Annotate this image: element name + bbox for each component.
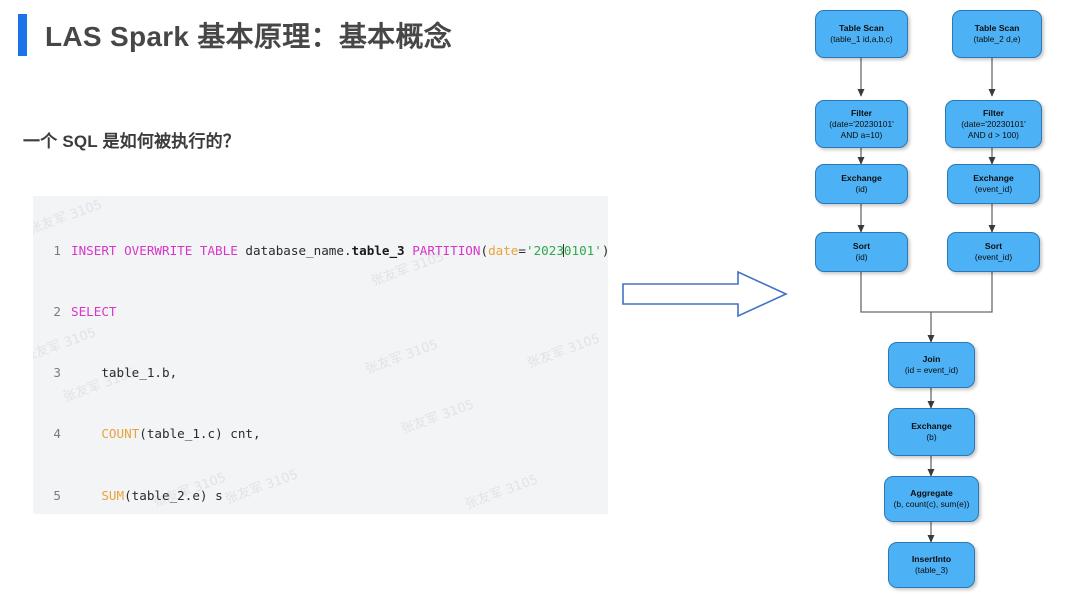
node-title: InsertInto — [912, 554, 951, 565]
line-number: 2 — [33, 302, 61, 322]
sql-code-block[interactable]: 张友军 3105 张友军 3105 张友军 3105 张友军 3105 张友军 … — [33, 196, 608, 514]
code-line: 4 COUNT(table_1.c) cnt, — [33, 424, 608, 444]
page-title: LAS Spark 基本原理：基本概念 — [45, 15, 452, 55]
code-lines: 1INSERT OVERWRITE TABLE database_name.ta… — [33, 196, 608, 514]
line-number: 5 — [33, 486, 61, 506]
line-number: 3 — [33, 363, 61, 383]
code-line: 2SELECT — [33, 302, 608, 322]
physical-plan-diagram: Table Scan (table_1 id,a,b,c) Table Scan… — [795, 0, 1080, 595]
subtitle-question: 一个 SQL 是如何被执行的？ — [23, 127, 240, 152]
node-subtitle: (table_2 d,e) — [973, 34, 1020, 45]
plan-node-table-scan-1[interactable]: Table Scan (table_1 id,a,b,c) — [815, 10, 908, 58]
flow-arrow-icon — [620, 268, 790, 320]
node-subtitle: (b, count(c), sum(e)) — [894, 499, 970, 510]
node-subtitle: (event_id) — [975, 184, 1012, 195]
node-subtitle: (id = event_id) — [905, 365, 958, 376]
node-title: Filter — [851, 108, 872, 119]
node-title: Exchange — [841, 173, 882, 184]
node-subtitle: (event_id) — [975, 252, 1012, 263]
code-line: 3 table_1.b, — [33, 363, 608, 383]
code-line: 5 SUM(table_2.e) s — [33, 486, 608, 506]
node-subtitle: (date='20230101' AND d > 100) — [961, 119, 1025, 140]
node-title: Sort — [853, 241, 870, 252]
node-subtitle: (date='20230101' AND a=10) — [829, 119, 893, 140]
plan-node-aggregate[interactable]: Aggregate (b, count(c), sum(e)) — [884, 476, 979, 522]
node-subtitle: (table_1 id,a,b,c) — [830, 34, 892, 45]
plan-node-insert-into[interactable]: InsertInto (table_3) — [888, 542, 975, 588]
node-title: Exchange — [973, 173, 1014, 184]
plan-node-table-scan-2[interactable]: Table Scan (table_2 d,e) — [952, 10, 1042, 58]
node-title: Exchange — [911, 421, 952, 432]
plan-node-sort-1[interactable]: Sort (id) — [815, 232, 908, 272]
title-row: LAS Spark 基本原理：基本概念 — [18, 14, 452, 56]
node-subtitle: (id) — [855, 184, 867, 195]
title-accent-bar — [18, 14, 27, 56]
code-line: 1INSERT OVERWRITE TABLE database_name.ta… — [33, 241, 608, 261]
plan-node-sort-2[interactable]: Sort (event_id) — [947, 232, 1040, 272]
line-number: 1 — [33, 241, 61, 261]
node-title: Table Scan — [975, 23, 1020, 34]
node-title: Table Scan — [839, 23, 884, 34]
plan-node-join[interactable]: Join (id = event_id) — [888, 342, 975, 388]
plan-node-exchange-1[interactable]: Exchange (id) — [815, 164, 908, 204]
node-title: Aggregate — [910, 488, 953, 499]
plan-node-exchange-2[interactable]: Exchange (event_id) — [947, 164, 1040, 204]
node-subtitle: (id) — [855, 252, 867, 263]
plan-node-filter-1[interactable]: Filter (date='20230101' AND a=10) — [815, 100, 908, 148]
plan-node-exchange-3[interactable]: Exchange (b) — [888, 408, 975, 456]
node-subtitle: (b) — [926, 432, 936, 443]
line-number: 4 — [33, 424, 61, 444]
node-subtitle: (table_3) — [915, 565, 948, 576]
node-title: Sort — [985, 241, 1002, 252]
node-title: Filter — [983, 108, 1004, 119]
plan-node-filter-2[interactable]: Filter (date='20230101' AND d > 100) — [945, 100, 1042, 148]
node-title: Join — [923, 354, 941, 365]
